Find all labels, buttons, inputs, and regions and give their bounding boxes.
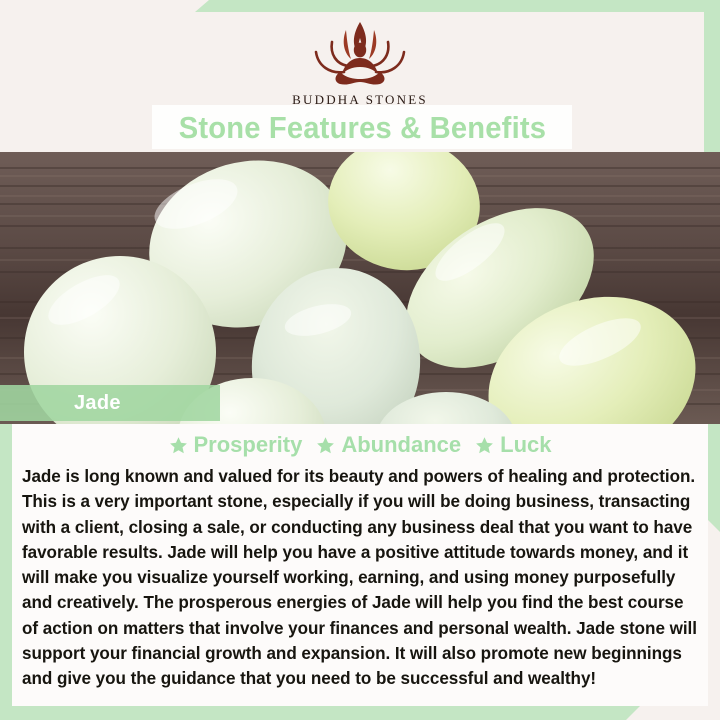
lotus-meditation-icon — [294, 16, 426, 88]
content-panel: Prosperity Abundance Luck Jade is long k… — [12, 424, 708, 706]
benefit-item: Abundance — [316, 432, 461, 458]
star-icon — [475, 436, 494, 455]
stone-name-label: Jade — [0, 385, 220, 421]
decorative-band-bottom — [0, 706, 640, 720]
benefit-label: Abundance — [341, 432, 461, 458]
stone-name-text: Jade — [74, 392, 121, 415]
benefit-item: Prosperity — [169, 432, 303, 458]
star-icon — [169, 436, 188, 455]
brand-logo: BUDDHA STONES — [0, 16, 720, 108]
title-banner: Stone Features & Benefits — [152, 105, 572, 149]
stone-description: Jade is long known and valued for its be… — [22, 464, 700, 692]
star-icon — [316, 436, 335, 455]
benefit-item: Luck — [475, 432, 551, 458]
photo-illustration — [0, 152, 720, 424]
jade-tumbled-stones-photo: Jade — [0, 152, 720, 424]
benefits-row: Prosperity Abundance Luck — [12, 428, 708, 462]
header: BUDDHA STONES Stone Features & Benefits — [0, 0, 720, 152]
benefit-label: Luck — [500, 432, 551, 458]
stone-feature-card: BUDDHA STONES Stone Features & Benefits — [0, 0, 720, 720]
benefit-label: Prosperity — [194, 432, 303, 458]
page-title: Stone Features & Benefits — [178, 112, 545, 143]
